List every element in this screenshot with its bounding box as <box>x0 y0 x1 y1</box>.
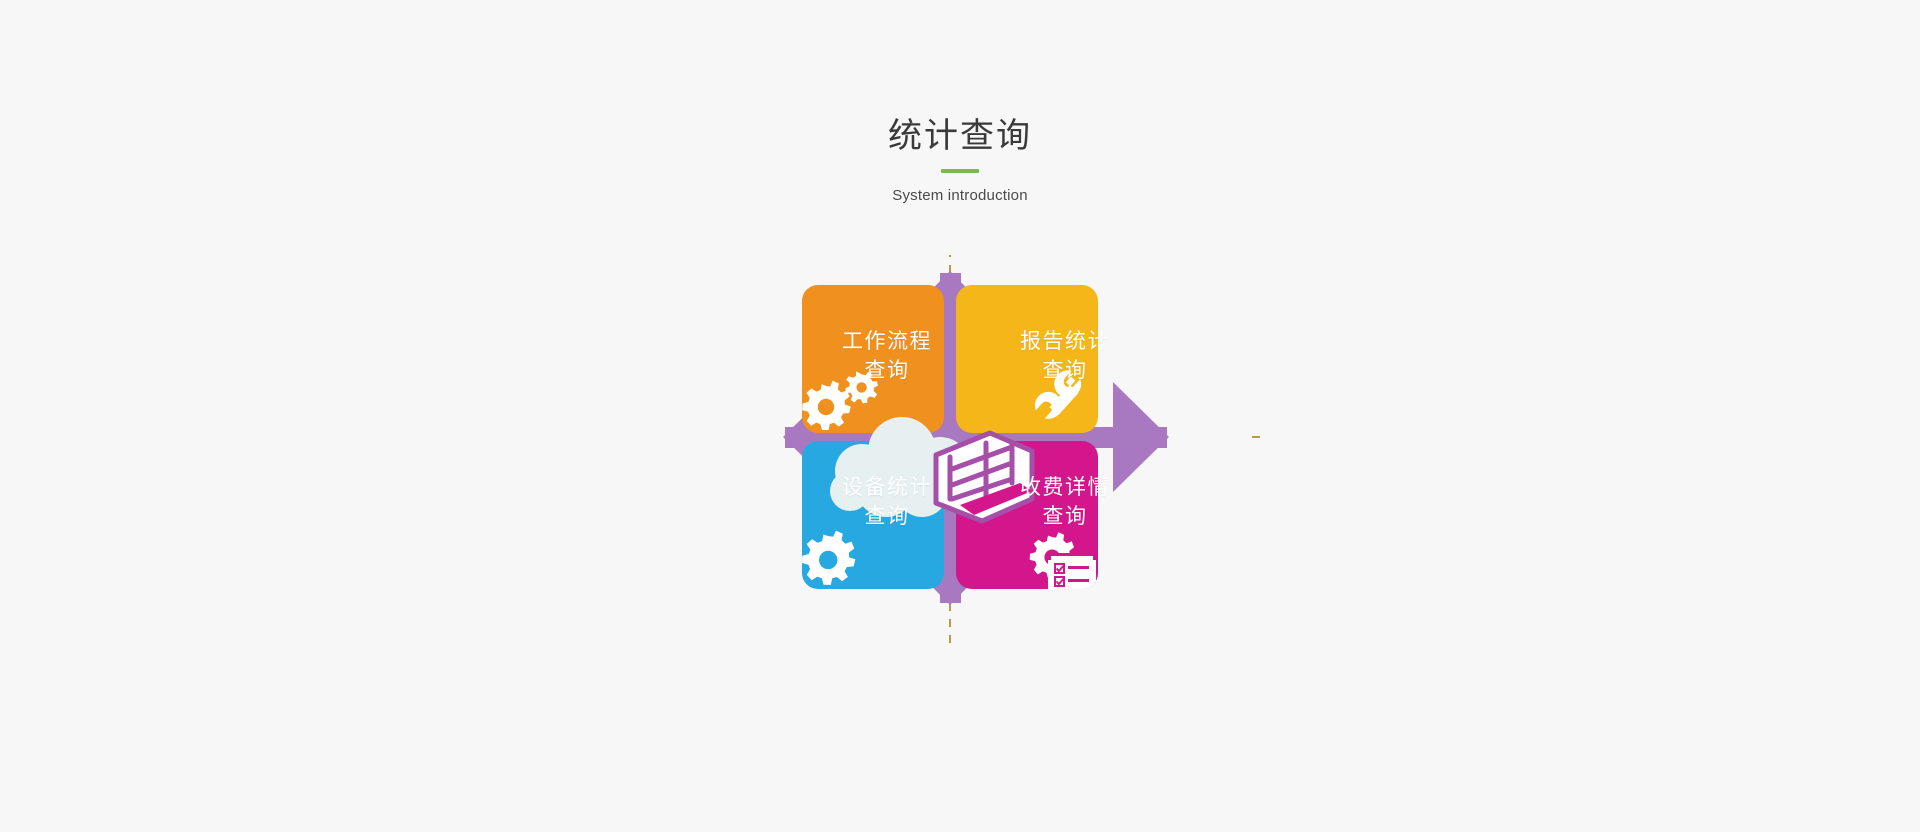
card-charge-detail-query-hit-area[interactable] <box>956 441 1098 589</box>
title-underline-rule <box>941 169 979 173</box>
card-report-statistics-query-hit-area[interactable] <box>956 285 1098 433</box>
statistics-query-diagram: 工作流程 查询 报告统计 查询 设备统计 查询 收费详情 查询 <box>690 255 1265 795</box>
card-device-statistics-query-hit-area[interactable] <box>802 441 944 589</box>
card-work-flow-query-hit-area[interactable] <box>802 285 944 433</box>
page-header: 统计查询 System introduction <box>0 0 1920 204</box>
page-title: 统计查询 <box>0 118 1920 155</box>
page-subtitle: System introduction <box>0 187 1920 204</box>
